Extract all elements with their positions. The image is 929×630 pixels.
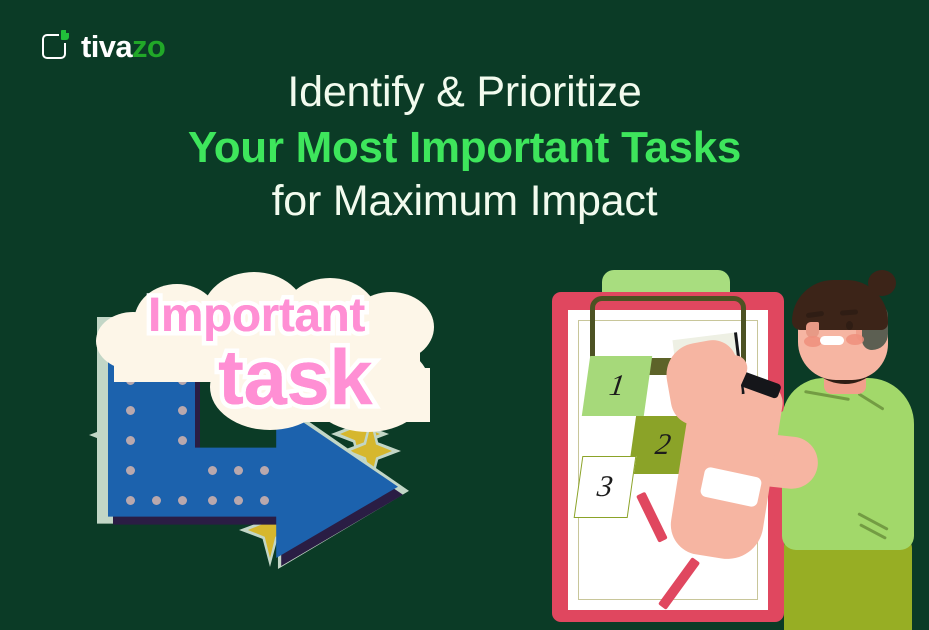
arrow-rivet xyxy=(260,496,269,505)
arrow-rivet xyxy=(126,466,135,475)
headline-line-1: Identify & Prioritize xyxy=(0,68,929,118)
checkmark-stroke-short xyxy=(636,492,668,543)
arrow-rivet xyxy=(178,496,187,505)
brand-name-part2: zo xyxy=(132,29,165,64)
logo-mark-icon xyxy=(42,30,72,62)
shirt-fold xyxy=(857,512,888,531)
sticky-note-1[interactable]: 1 xyxy=(582,356,652,416)
clipboard-illustration: 1 2 3 xyxy=(530,258,929,630)
shirt-fold xyxy=(857,392,884,410)
arrow-rivet xyxy=(234,496,243,505)
arrow-rivet xyxy=(260,466,269,475)
arrow-rivet xyxy=(234,466,243,475)
headline-block: Identify & Prioritize Your Most Importan… xyxy=(0,68,929,227)
person-hair-bun xyxy=(868,270,896,296)
headline-line-3: for Maximum Impact xyxy=(0,177,929,227)
person-figure xyxy=(758,266,929,630)
arrow-rivet xyxy=(208,466,217,475)
arrow-rivet xyxy=(126,496,135,505)
person-pants xyxy=(784,538,912,630)
arrow-rivet xyxy=(152,496,161,505)
important-task-illustration: Important Important task task xyxy=(90,270,490,590)
person-eye-right xyxy=(846,321,853,330)
headline-line-2: Your Most Important Tasks xyxy=(0,122,929,173)
person-mouth xyxy=(820,336,844,345)
brand-logo[interactable]: tivazo xyxy=(42,30,165,62)
banner-canvas: tivazo Identify & Prioritize Your Most I… xyxy=(0,0,929,630)
brand-wordmark: tivazo xyxy=(81,31,165,62)
arrow-rivet xyxy=(208,496,217,505)
sticker-task-fill: task xyxy=(218,332,372,423)
person-cheek-right xyxy=(846,334,864,345)
sticky-note-3[interactable]: 3 xyxy=(574,456,637,518)
logo-flag-icon xyxy=(61,30,69,40)
brand-name-part1: tiva xyxy=(81,29,132,64)
